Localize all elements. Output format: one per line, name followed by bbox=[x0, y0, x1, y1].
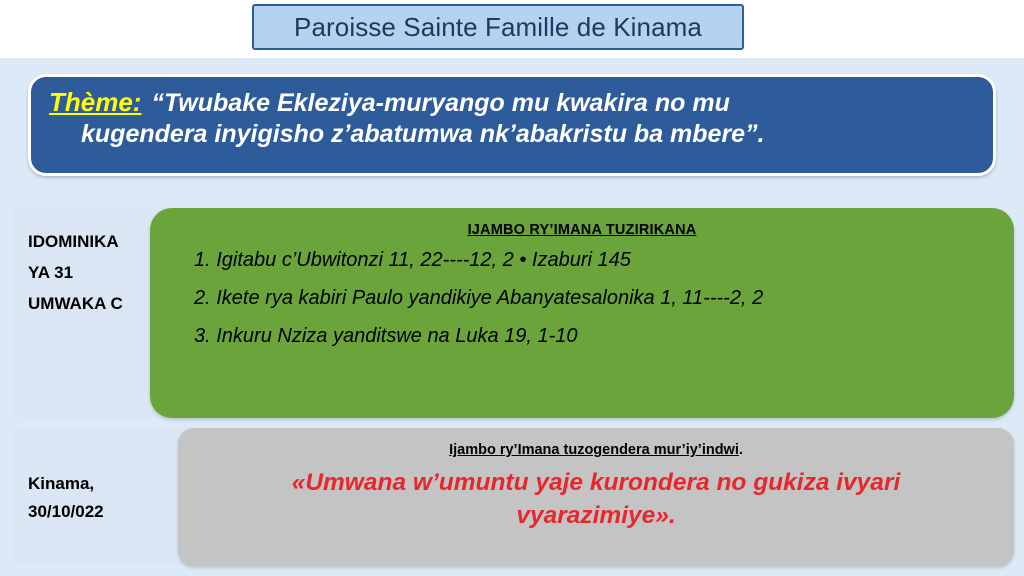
gospel-sidebar: Kinama, 30/10/022 bbox=[10, 428, 190, 566]
gospel-sidebar-location: Kinama, bbox=[28, 470, 180, 498]
readings-box: IJAMBO RY’IMANA TUZIRIKANA 1. Igitabu c’… bbox=[150, 208, 1014, 418]
gospel-box: Ijambo ry’Imana tuzogendera mur’iy’indwi… bbox=[178, 428, 1014, 566]
reading-item: 3. Inkuru Nziza yanditswe na Luka 19, 1-… bbox=[168, 322, 996, 350]
gospel-sidebar-date: 30/10/022 bbox=[28, 498, 180, 526]
theme-text-line-2: kugendera inyigisho z’abatumwa nk’abakri… bbox=[49, 120, 977, 149]
gospel-quote-line-2: vyarazimiye». bbox=[192, 499, 1000, 532]
theme-box: Thème: “Twubake Ekleziya-muryango mu kwa… bbox=[28, 74, 996, 176]
gospel-quote: «Umwana w’umuntu yaje kurondera no gukiz… bbox=[192, 466, 1000, 532]
gospel-quote-line-1: «Umwana w’umuntu yaje kurondera no gukiz… bbox=[192, 466, 1000, 499]
page-title: Paroisse Sainte Famille de Kinama bbox=[294, 12, 702, 43]
reading-item: 2. Ikete rya kabiri Paulo yandikiye Aban… bbox=[168, 284, 996, 312]
slide-title-box: Paroisse Sainte Famille de Kinama bbox=[252, 4, 744, 50]
gospel-heading-text: Ijambo ry’Imana tuzogendera mur’iy’indwi bbox=[449, 442, 739, 458]
gospel-heading-tail: . bbox=[739, 442, 743, 458]
readings-heading: IJAMBO RY’IMANA TUZIRIKANA bbox=[168, 222, 996, 238]
theme-first-line: Thème: “Twubake Ekleziya-muryango mu kwa… bbox=[49, 87, 977, 118]
theme-text-line-1: “Twubake Ekleziya-muryango mu kwakira no… bbox=[151, 89, 729, 118]
theme-label: Thème: bbox=[49, 87, 141, 118]
slide: Paroisse Sainte Famille de Kinama Thème:… bbox=[0, 0, 1024, 576]
gospel-heading: Ijambo ry’Imana tuzogendera mur’iy’indwi… bbox=[192, 442, 1000, 458]
reading-item: 1. Igitabu c’Ubwitonzi 11, 22----12, 2 •… bbox=[168, 246, 996, 274]
